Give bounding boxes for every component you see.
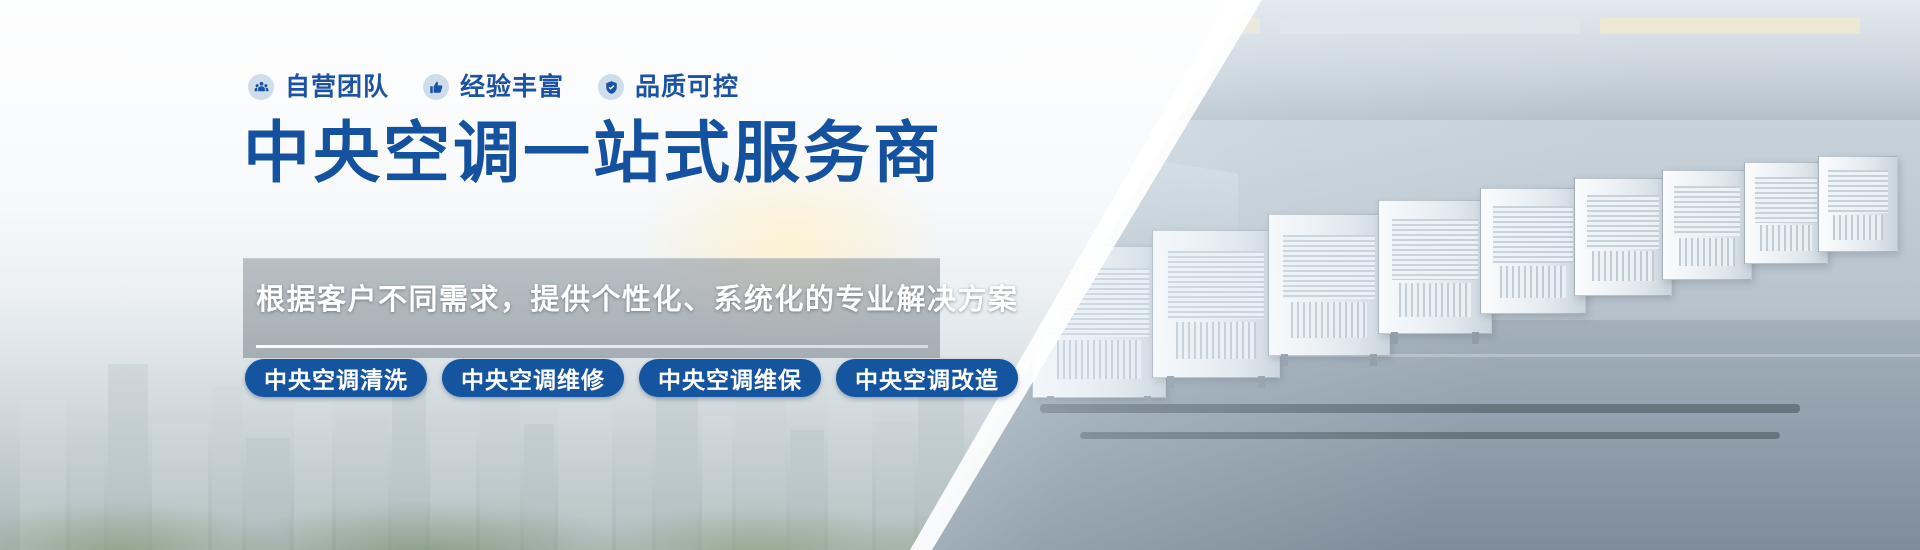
service-pill-repair[interactable]: 中央空调维修 — [442, 359, 624, 397]
feature-badge-team: 自营团队 — [248, 74, 389, 100]
panel-divider-rule — [256, 345, 928, 348]
service-pill-list: 中央空调清洗 中央空调维修 中央空调维保 中央空调改造 — [245, 359, 1018, 397]
page-title: 中央空调一站式服务商 — [243, 116, 943, 191]
feature-badge-label: 品质可控 — [635, 75, 739, 100]
hero-content: 自营团队 经验丰富 品质可控 — [0, 0, 1000, 550]
feature-badge-label: 经验丰富 — [460, 75, 564, 100]
team-icon — [248, 74, 274, 100]
subtitle-text: 根据客户不同需求，提供个性化、系统化的专业解决方案 — [256, 286, 1019, 315]
thumbs-up-icon — [423, 74, 449, 100]
service-pill-cleaning[interactable]: 中央空调清洗 — [245, 359, 427, 397]
service-pill-maintenance[interactable]: 中央空调维保 — [639, 359, 821, 397]
feature-badge-label: 自营团队 — [285, 75, 389, 100]
shield-check-icon — [598, 74, 624, 100]
service-pill-renovation[interactable]: 中央空调改造 — [836, 359, 1018, 397]
feature-badge-quality: 品质可控 — [598, 74, 739, 100]
feature-badge-experience: 经验丰富 — [423, 74, 564, 100]
feature-badge-list: 自营团队 经验丰富 品质可控 — [248, 74, 739, 100]
hero-banner: 自营团队 经验丰富 品质可控 — [0, 0, 1920, 550]
